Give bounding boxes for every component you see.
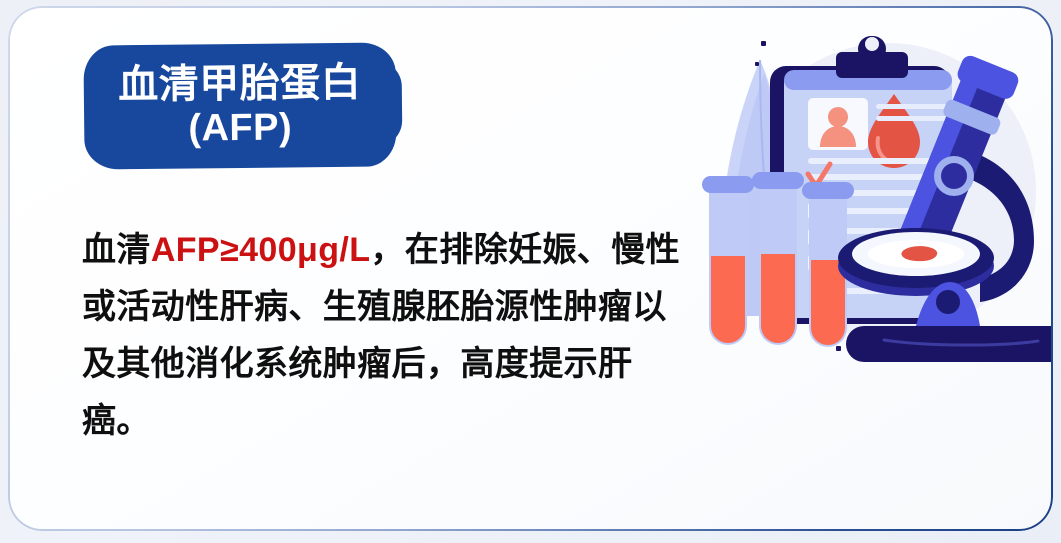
test-tube-icon [702, 172, 854, 347]
title-badge-line-1: 血清甲胎蛋白 [118, 62, 361, 108]
title-badge-line-2: (AFP) [188, 108, 292, 150]
body-text-segment-highlight: AFP≥400μg/L [151, 231, 371, 269]
body-text-segment-plain-1: 血清 [82, 231, 151, 269]
info-card: 血清甲胎蛋白 (AFP) 血清AFP≥400μg/L，在排除妊娠、慢性或活动性肝… [8, 6, 1053, 531]
patient-photo-card-icon [808, 98, 868, 150]
medical-lab-illustration [698, 16, 1053, 376]
title-badge: 血清甲胎蛋白 (AFP) [83, 42, 396, 169]
petri-dish-icon [838, 228, 994, 296]
body-paragraph: 血清AFP≥400μg/L，在排除妊娠、慢性或活动性肝病、生殖腺胚胎源性肿瘤以及… [82, 222, 692, 450]
